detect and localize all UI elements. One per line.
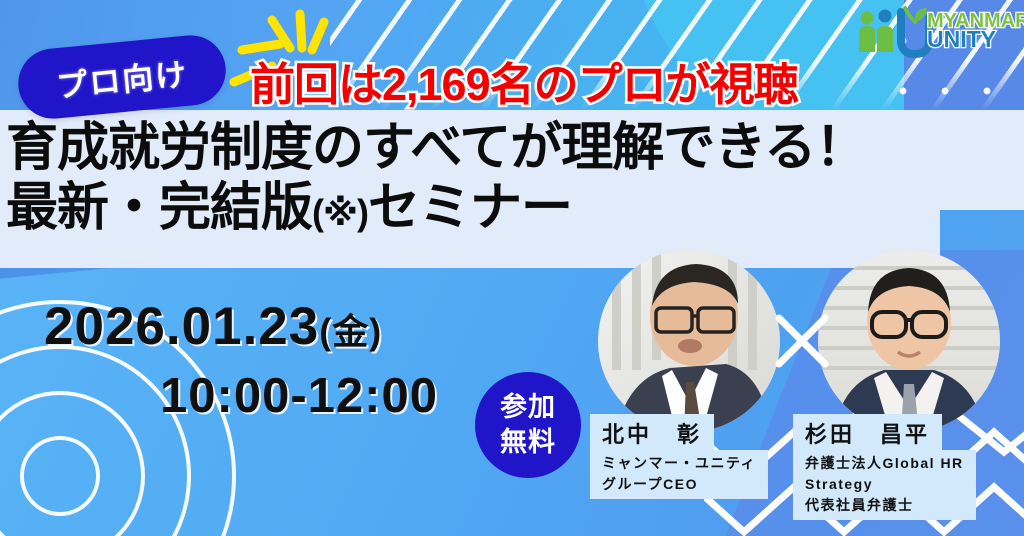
speaker-role-kitanaka-line1: ミャンマー・ユニティ	[602, 453, 756, 474]
speaker-photo-sugita	[818, 250, 1000, 432]
seminar-time: 10:00-12:00	[160, 368, 438, 424]
speaker-name-kitanaka: 北中 彰	[590, 414, 714, 453]
speaker-name-sugita: 杉田 昌平	[793, 414, 942, 453]
speaker-role-sugita-line3: 代表社員弁護士	[805, 495, 964, 516]
myanmar-unity-logo: MYANMAR UNITY	[855, 6, 1010, 62]
seminar-day-of-week: (金)	[319, 311, 382, 352]
free-badge-line1: 参加	[500, 390, 556, 425]
logo-line-unity: UNITY	[927, 29, 1024, 51]
seminar-banner: プロ向け 前回は2,169名のプロが視聴 MYANMAR UNITY	[0, 0, 1024, 536]
seminar-title-note: (※)	[312, 192, 368, 233]
seminar-title-line1: 育成就労制度のすべてが理解できる！	[6, 118, 966, 178]
seminar-title: 育成就労制度のすべてが理解できる！ 最新・完結版(※)セミナー	[6, 118, 966, 239]
seminar-title-line2-main: 最新・完結版	[6, 179, 312, 237]
seminar-date: 2026.01.23(金)	[44, 296, 382, 357]
logo-wordmark: MYANMAR UNITY	[927, 12, 1024, 51]
speaker-role-sugita: 弁護士法人Global HR Strategy 代表社員弁護士	[793, 450, 976, 520]
seminar-date-value: 2026.01.23	[44, 297, 319, 356]
speaker-role-kitanaka: ミャンマー・ユニティ グループCEO	[590, 450, 768, 499]
free-participation-badge: 参加 無料	[475, 372, 581, 478]
logo-mark-icon	[855, 6, 935, 62]
pro-audience-badge-label: プロ向け	[54, 48, 190, 105]
speaker-role-kitanaka-line2: グループCEO	[602, 474, 756, 495]
cross-separator-icon	[773, 312, 831, 370]
speaker-role-sugita-line2: Strategy	[805, 474, 964, 495]
speaker-photo-kitanaka	[598, 250, 780, 432]
seminar-title-line2-tail: セミナー	[368, 179, 572, 237]
headline-text: 前回は2,169名のプロが視聴	[250, 48, 798, 113]
speaker-role-sugita-line1: 弁護士法人Global HR	[805, 453, 964, 474]
seminar-title-line2: 最新・完結版(※)セミナー	[6, 178, 966, 238]
free-badge-line2: 無料	[500, 425, 556, 460]
